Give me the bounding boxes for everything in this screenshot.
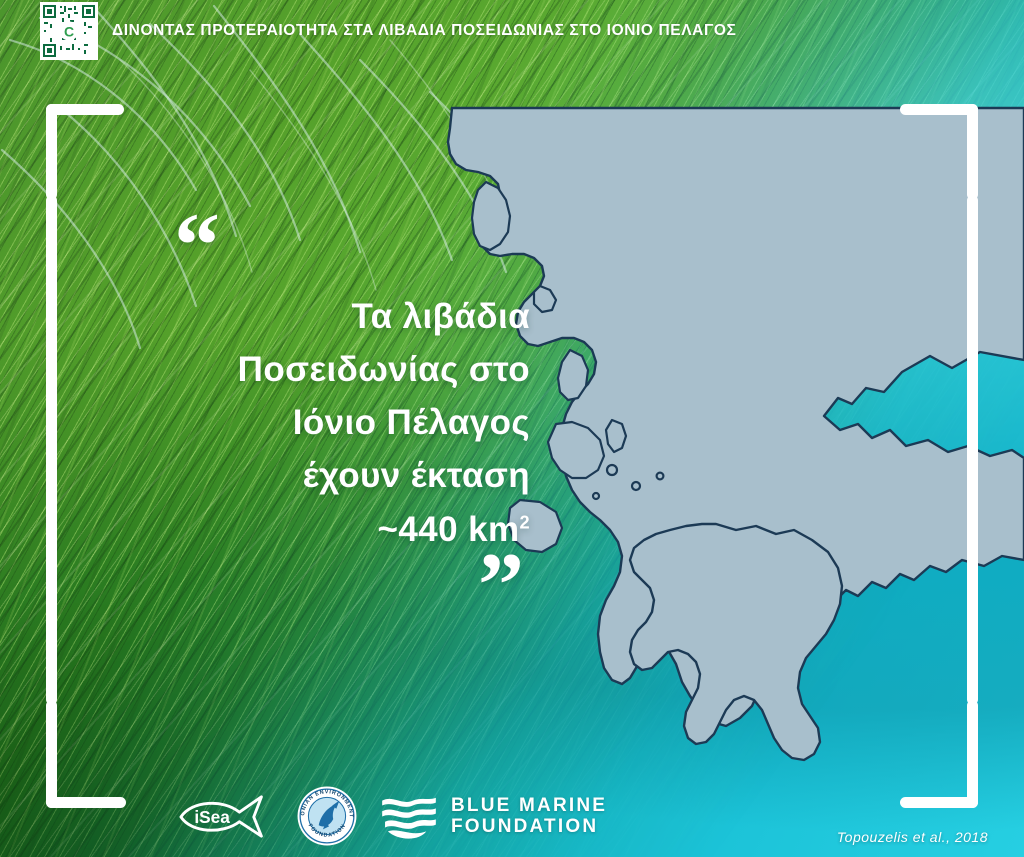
header-title: ΔΙΝΟΝΤΑΣ ΠΡΟΤΕΡΑΙΟΤΗΤΑ ΣΤΑ ΛΙΒΑΔΙΑ ΠΟΣΕΙ… [112, 22, 736, 40]
quote-block: “ Τα λιβάδια Ποσειδωνίας στο Ιόνιο Πέλαγ… [170, 222, 530, 610]
quote-open-mark: “ [174, 222, 530, 270]
ionian-environment-foundation-logo[interactable]: IONIAN ENVIRONMENT FOUNDATION [296, 785, 358, 847]
isea-logo[interactable]: iSea [176, 793, 274, 839]
infographic-poster: C ΔΙΝΟΝΤΑΣ ΠΡΟΤΕΡΑΙΟΤΗΤΑ ΣΤΑ ΛΙΒΑΔΙΑ ΠΟΣ… [0, 0, 1024, 857]
quote-line-2: Ποσειδωνίας στο [170, 343, 530, 396]
quote-value-line: ~440 km2 [170, 503, 530, 556]
source-credit: Topouzelis et al., 2018 [837, 829, 988, 845]
quote-line-1: Τα λιβάδια [170, 290, 530, 343]
quote-close-mark: ” [170, 562, 520, 610]
header-bar: C ΔΙΝΟΝΤΑΣ ΠΡΟΤΕΡΑΙΟΤΗΤΑ ΣΤΑ ΛΙΒΑΔΙΑ ΠΟΣ… [0, 0, 1024, 62]
partner-logos: iSea IONIAN ENVIRONMENT FOUNDATION [176, 785, 607, 847]
qr-code-icon[interactable]: C [40, 2, 98, 60]
bmf-waves-icon [380, 793, 438, 839]
bmf-text: BLUE MARINE FOUNDATION [451, 795, 607, 838]
quote-value-exponent: 2 [519, 512, 530, 532]
qr-center-logo: C [60, 22, 79, 41]
bmf-label-top: BLUE MARINE [451, 795, 607, 816]
isea-logo-label: iSea [194, 807, 230, 827]
quote-text: Τα λιβάδια Ποσειδωνίας στο Ιόνιο Πέλαγος… [170, 290, 530, 556]
blue-marine-foundation-logo[interactable]: BLUE MARINE FOUNDATION [380, 793, 607, 839]
quote-line-4: έχουν έκταση [170, 449, 530, 502]
bmf-label-bottom: FOUNDATION [451, 816, 607, 837]
quote-line-3: Ιόνιο Πέλαγος [170, 396, 530, 449]
